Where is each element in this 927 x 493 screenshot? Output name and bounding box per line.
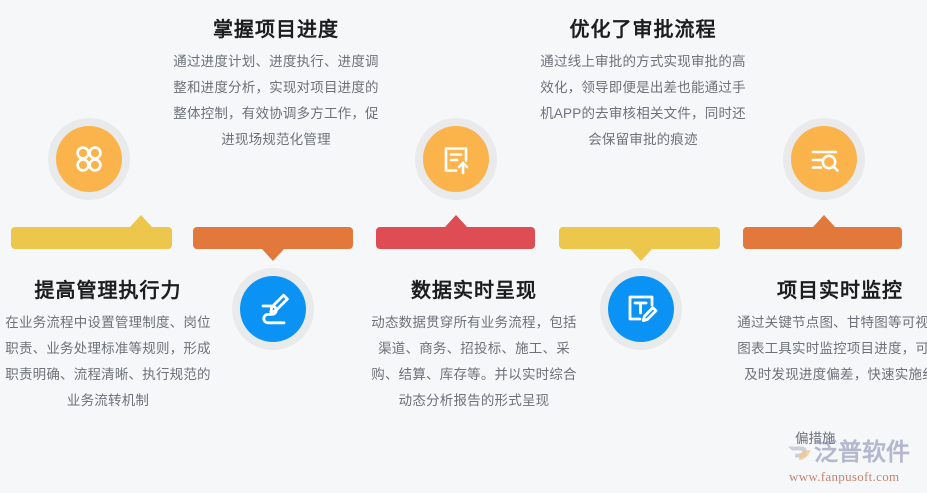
connector-pointer-up-icon — [813, 215, 835, 227]
feature-block-top-1: 掌握项目进度 通过进度计划、进度执行、进度调整和进度分析，实现对项目进度的整体控… — [170, 18, 382, 153]
feature-block-bottom-1: 提高管理执行力 在业务流程中设置管理制度、岗位职责、业务处理标准等规则，形成职责… — [2, 279, 214, 414]
feature-block-top-2: 优化了审批流程 通过线上审批的方式实现审批的高效化，领导即便是出差也能通过手机A… — [537, 18, 749, 153]
feature-title: 优化了审批流程 — [537, 18, 749, 42]
feature-title: 数据实时呈现 — [368, 279, 580, 303]
infographic-canvas: 掌握项目进度 通过进度计划、进度执行、进度调整和进度分析，实现对项目进度的整体控… — [0, 0, 927, 493]
four-dots-grid-icon — [56, 126, 122, 192]
feature-title: 提高管理执行力 — [2, 279, 214, 303]
connector-bar-4 — [559, 227, 720, 249]
connector-bar-5 — [743, 227, 902, 249]
feature-description: 通过关键节点图、甘特图等可视化图表工具实时监控项目进度，可以及时发现进度偏差，快… — [734, 310, 927, 388]
connector-bar-2 — [193, 227, 353, 249]
feature-icon-badge-1 — [48, 118, 130, 200]
connector-pointer-down-icon — [262, 249, 284, 261]
feature-title: 项目实时监控 — [734, 279, 927, 303]
connector-bar-1 — [11, 227, 172, 249]
feature-block-bottom-3: 项目实时监控 通过关键节点图、甘特图等可视化图表工具实时监控项目进度，可以及时发… — [734, 279, 927, 388]
watermark-url: www.fanpusoft.com — [789, 469, 899, 485]
document-upload-icon — [423, 126, 489, 192]
feature-description: 通过进度计划、进度执行、进度调整和进度分析，实现对项目进度的整体控制，有效协调多… — [170, 49, 382, 153]
feature-description: 在业务流程中设置管理制度、岗位职责、业务处理标准等规则，形成职责明确、流程清晰、… — [2, 310, 214, 414]
connector-pointer-down-icon — [630, 249, 652, 261]
connector-pointer-up-icon — [130, 215, 152, 227]
feature-icon-badge-4 — [232, 268, 314, 350]
feature-description-overflow: 偏措施 — [795, 426, 836, 452]
feature-icon-badge-3 — [783, 118, 865, 200]
feature-icon-badge-5 — [600, 268, 682, 350]
feature-block-bottom-2: 数据实时呈现 动态数据贯穿所有业务流程，包括渠道、商务、招投标、施工、采购、结算… — [368, 279, 580, 414]
feature-description: 通过线上审批的方式实现审批的高效化，领导即便是出差也能通过手机APP的去审核相关… — [537, 49, 749, 153]
signature-pen-icon — [240, 276, 306, 342]
list-search-icon — [791, 126, 857, 192]
feature-description: 动态数据贯穿所有业务流程，包括渠道、商务、招投标、施工、采购、结算、库存等。并以… — [368, 310, 580, 414]
connector-bar-3 — [376, 227, 535, 249]
connector-pointer-up-icon — [445, 215, 467, 227]
feature-title: 掌握项目进度 — [170, 18, 382, 42]
feature-icon-badge-2 — [415, 118, 497, 200]
text-box-edit-icon — [608, 276, 674, 342]
